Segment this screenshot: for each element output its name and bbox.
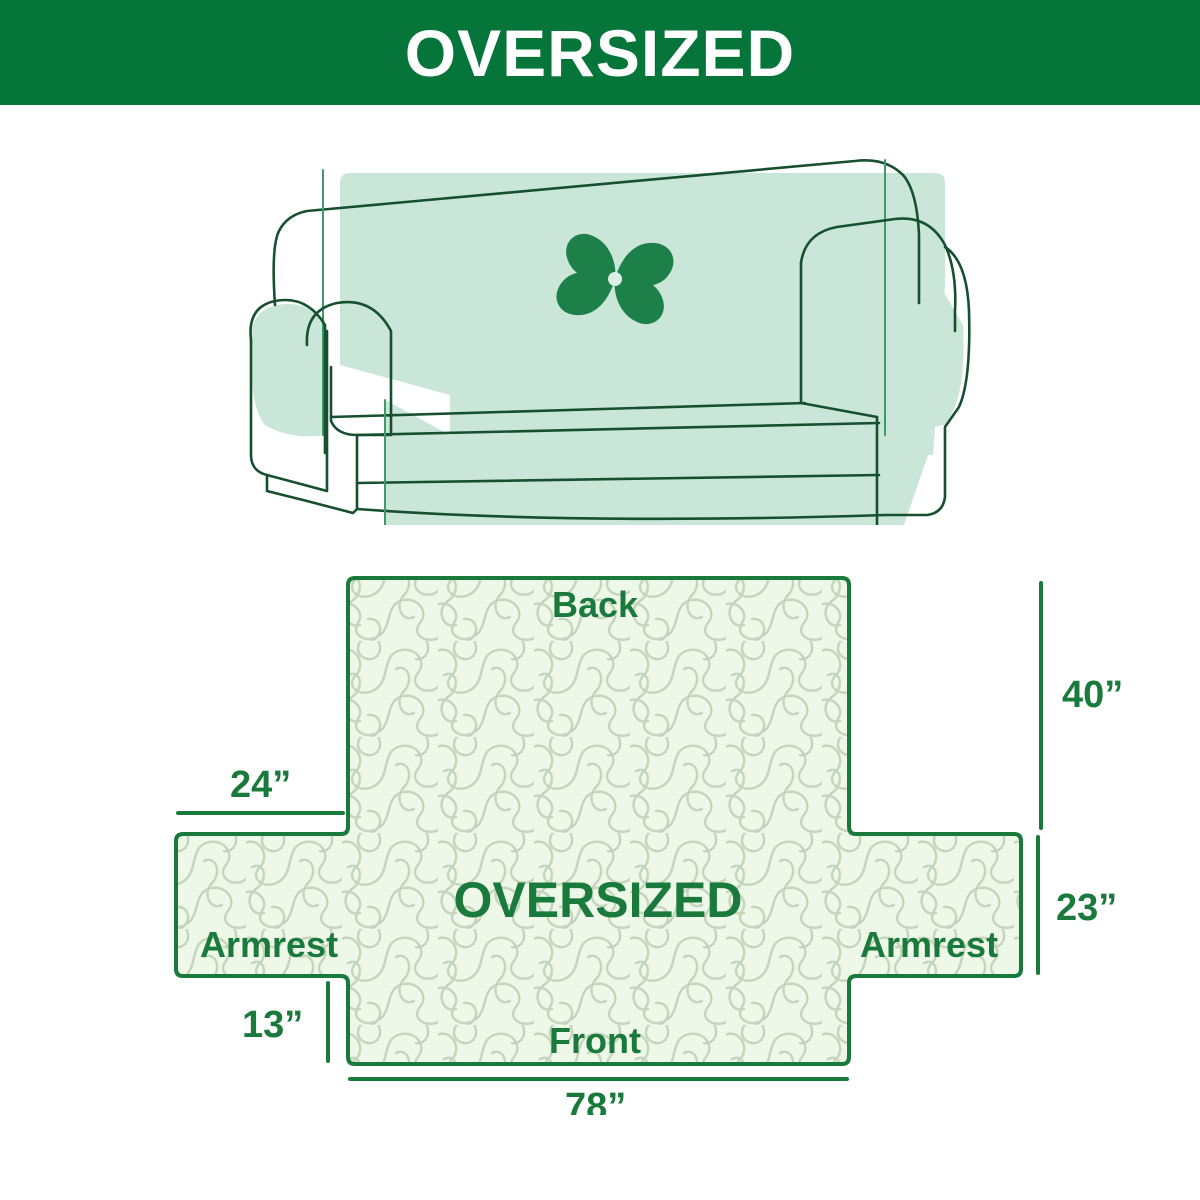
layout-shape-group: [176, 578, 1021, 1064]
diagram-center-label: OVERSIZED: [454, 872, 743, 928]
dim-label-back-offset: 24”: [230, 764, 291, 806]
section-label-front: Front: [549, 1020, 641, 1061]
sizing-diagram: 40” 24” 23” 13” 78” Back Front Armrest A…: [150, 545, 1200, 1115]
sofa-base-left: [267, 475, 307, 501]
dim-label-armrest-depth: 23”: [1056, 887, 1117, 929]
dim-label-total-width: 78”: [565, 1086, 626, 1115]
section-label-back: Back: [552, 584, 639, 625]
dim-label-front-skirt: 13”: [242, 1004, 303, 1046]
section-label-armrest-left: Armrest: [200, 924, 338, 965]
cover-right-arm-fill: [885, 276, 964, 435]
slipcover-outline: [176, 578, 1021, 1064]
page-title: OVERSIZED: [405, 20, 795, 86]
pinwheel-hub: [608, 272, 622, 286]
sofa-illustration: [245, 135, 975, 525]
header-banner: OVERSIZED: [0, 0, 1200, 105]
section-label-armrest-right: Armrest: [860, 924, 998, 965]
cover-left-arm-fill: [251, 304, 325, 436]
sofa-base-left-bottom: [307, 501, 357, 513]
dim-label-back-height: 40”: [1062, 674, 1123, 716]
